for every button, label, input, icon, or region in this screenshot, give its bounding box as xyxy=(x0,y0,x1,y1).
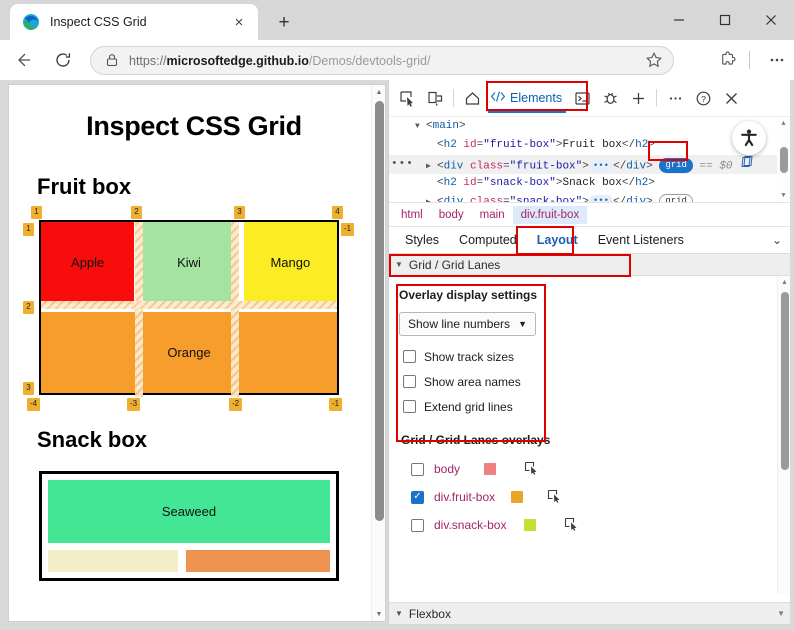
edge-logo-icon xyxy=(22,13,40,31)
grid-cell-label: Kiwi xyxy=(177,255,201,270)
grid-cell-kiwi: Kiwi xyxy=(142,222,235,304)
dom-node-main[interactable]: ▼<main> xyxy=(389,117,790,136)
grid-line-top-1: 1 xyxy=(31,206,42,219)
devtools-divider xyxy=(453,89,454,107)
checkbox-extend-grid-lines[interactable]: Extend grid lines xyxy=(399,394,790,419)
device-emulation-icon[interactable] xyxy=(421,84,449,112)
tab-elements[interactable]: Elements xyxy=(486,83,568,113)
section-flexbox[interactable]: ▼ Flexbox ▼ xyxy=(389,602,790,624)
dom-node-div-fruit-box[interactable]: •••▶<div class="fruit-box">•••</div> gri… xyxy=(389,155,790,174)
checkbox-box[interactable] xyxy=(411,463,424,476)
grid-cell-label: Seaweed xyxy=(162,504,216,519)
grid-cell-label: Apple xyxy=(71,255,104,270)
browser-tab[interactable]: Inspect CSS Grid × xyxy=(10,4,258,40)
grid-cell-orange: Orange xyxy=(41,312,337,394)
checkbox-box[interactable] xyxy=(411,491,424,504)
grid-overlays-title: Grid / Grid Lanes overlays xyxy=(401,433,790,447)
page-viewport: Inspect CSS Grid Fruit box 1 2 3 4 1 2 3… xyxy=(8,84,386,622)
grid-cell-label: Orange xyxy=(167,345,210,360)
tab-close-icon[interactable]: × xyxy=(228,11,250,33)
bug-icon[interactable] xyxy=(596,84,624,112)
grid-cell-seaweed: Seaweed xyxy=(48,480,330,543)
checkbox-box[interactable] xyxy=(403,375,416,388)
title-bar: Inspect CSS Grid × + xyxy=(0,0,794,40)
dom-scrollbar-thumb[interactable] xyxy=(780,147,788,173)
extensions-puzzle-icon[interactable] xyxy=(711,43,745,77)
twisty-icon[interactable]: ▼ xyxy=(415,117,426,136)
grid-line-bottom-neg4: -4 xyxy=(27,398,40,411)
favorites-star-icon[interactable] xyxy=(645,51,665,71)
devtools-more-ellipsis-icon[interactable] xyxy=(661,84,689,112)
scroll-down-arrow-icon[interactable]: ▼ xyxy=(372,607,386,621)
overlay-row-div-snack-box[interactable]: div.snack-box xyxy=(399,511,790,539)
overlay-color-swatch[interactable] xyxy=(511,491,523,503)
breadcrumb-item-body[interactable]: body xyxy=(431,206,472,224)
scroll-down-arrow-icon[interactable]: ▼ xyxy=(777,189,790,202)
console-icon[interactable] xyxy=(568,84,596,112)
window-controls xyxy=(656,0,794,40)
checkbox-show-track-sizes[interactable]: Show track sizes xyxy=(399,344,790,369)
layout-pane-scrollbar[interactable]: ▲ xyxy=(777,276,790,594)
checkbox-box[interactable] xyxy=(403,350,416,363)
chevron-down-icon[interactable]: ⌄ xyxy=(772,233,782,247)
code-brackets-icon xyxy=(490,90,506,106)
grid-line-bottom-neg2: -2 xyxy=(229,398,242,411)
checkbox-box[interactable] xyxy=(403,400,416,413)
tab-title: Inspect CSS Grid xyxy=(50,15,228,29)
toolbar-right-actions xyxy=(705,40,794,80)
scroll-up-arrow-icon[interactable]: ▲ xyxy=(778,276,790,289)
checkbox-label: Extend grid lines xyxy=(424,400,513,414)
overlay-element-name: div.fruit-box xyxy=(434,490,495,504)
tab-event-listeners[interactable]: Event Listeners xyxy=(588,229,694,251)
checkbox-show-area-names[interactable]: Show area names xyxy=(399,369,790,394)
reload-icon[interactable] xyxy=(46,43,80,77)
page-title: Inspect CSS Grid xyxy=(9,111,379,142)
layout-scrollbar-thumb[interactable] xyxy=(781,292,789,470)
section-grid-grid-lanes[interactable]: ▼ Grid / Grid Lanes xyxy=(389,254,790,276)
fruit-box-grid: Apple Kiwi Mango Orange xyxy=(39,220,339,395)
toolbar-divider xyxy=(749,51,750,69)
devtools-divider-2 xyxy=(656,89,657,107)
grid-cell-mango: Mango xyxy=(244,222,337,304)
breadcrumb-item-div-fruit-box[interactable]: div.fruit-box xyxy=(513,206,588,224)
inspect-element-icon[interactable] xyxy=(393,84,421,112)
expand-children-icon[interactable]: ••• xyxy=(589,195,613,202)
chevron-down-icon: ▼ xyxy=(518,319,527,329)
page-scrollbar-thumb[interactable] xyxy=(375,101,384,521)
line-labels-select[interactable]: Show line numbers ▼ xyxy=(399,312,536,336)
grid-line-bottom-neg1: -1 xyxy=(329,398,342,411)
maximize-button[interactable] xyxy=(702,0,748,40)
grid-line-top-4: 4 xyxy=(332,206,343,219)
grid-line-left-1: 1 xyxy=(23,223,34,236)
fruit-box-heading: Fruit box xyxy=(37,174,379,200)
dom-node-h2-snack[interactable]: <h2 id="snack-box">Snack box</h2> xyxy=(389,174,790,193)
help-icon[interactable]: ? xyxy=(689,84,717,112)
page-scrollbar[interactable]: ▲ ▼ xyxy=(371,85,385,621)
pick-element-icon[interactable] xyxy=(524,461,539,478)
checkbox-label: Show track sizes xyxy=(424,350,514,364)
overlay-color-swatch[interactable] xyxy=(484,463,496,475)
grid-cell-label: Mango xyxy=(270,255,310,270)
selected-node-ref: == $0 xyxy=(700,160,733,172)
snack-box-heading: Snack box xyxy=(37,427,379,453)
lock-icon xyxy=(104,52,122,70)
tab-layout[interactable]: Layout xyxy=(527,229,588,251)
web-page-content: Inspect CSS Grid Fruit box 1 2 3 4 1 2 3… xyxy=(9,85,379,622)
snack-box-grid: Seaweed xyxy=(39,471,339,581)
grid-line-left-3: 3 xyxy=(23,382,34,395)
accessibility-person-icon[interactable] xyxy=(732,121,766,155)
scroll-up-arrow-icon[interactable]: ▲ xyxy=(777,117,790,130)
overlay-element-name: body xyxy=(434,462,460,476)
url-host: microsoftedge.github.io xyxy=(167,54,309,68)
minimize-button[interactable] xyxy=(656,0,702,40)
expand-children-icon[interactable]: ••• xyxy=(589,160,613,172)
devtools-panel: Elements ? ▼<main> xyxy=(388,80,790,624)
settings-ellipsis-icon[interactable] xyxy=(760,43,794,77)
tab-elements-label: Elements xyxy=(510,91,562,105)
grid-lanes-icon[interactable] xyxy=(741,160,755,172)
url-text: https://microsoftedge.github.io/Demos/de… xyxy=(129,54,663,68)
grid-line-bottom-neg3: -3 xyxy=(127,398,140,411)
overlay-display-settings-title: Overlay display settings xyxy=(399,288,790,302)
grid-line-right-neg1: -1 xyxy=(341,223,354,236)
breadcrumb-item-html[interactable]: html xyxy=(393,206,431,224)
checkbox-label: Show area names xyxy=(424,375,521,389)
overlay-row-body[interactable]: body xyxy=(399,455,790,483)
pick-element-icon[interactable] xyxy=(564,517,579,534)
home-icon[interactable] xyxy=(458,84,486,112)
caret-down-icon[interactable]: ▼ xyxy=(395,609,403,618)
fruit-box-grid-overlay: 1 2 3 4 1 2 3 -1 -4 -3 -2 -1 Apple xyxy=(39,220,339,395)
overlay-color-swatch[interactable] xyxy=(524,519,536,531)
dom-tree-scrollbar[interactable]: ▲ ▼ xyxy=(777,117,790,202)
scroll-down-arrow-icon[interactable]: ▼ xyxy=(777,609,785,618)
grid-cell-snack-3 xyxy=(186,550,330,572)
layout-pane: Overlay display settings Show line numbe… xyxy=(389,276,790,594)
breadcrumb-item-main[interactable]: main xyxy=(472,206,513,224)
sidebar-pane-tabs: Styles Computed Layout Event Listeners ⌄ xyxy=(389,226,790,254)
devtools-close-icon[interactable] xyxy=(717,84,745,112)
breadcrumb: html body main div.fruit-box xyxy=(389,202,790,226)
section-grid-lanes-label: Grid / Grid Lanes xyxy=(409,258,500,272)
dom-node-menu-dots-icon[interactable]: ••• xyxy=(391,155,414,174)
checkbox-box[interactable] xyxy=(411,519,424,532)
grid-line-left-2: 2 xyxy=(23,301,34,314)
dom-tree[interactable]: ▼<main> <h2 id="fruit-box">Fruit box</h2… xyxy=(389,116,790,202)
back-icon[interactable] xyxy=(6,43,40,77)
dom-node-div-snack-box[interactable]: ▶<div class="snack-box">•••</div> grid xyxy=(389,193,790,202)
browser-window: Inspect CSS Grid × + xyxy=(0,0,794,630)
line-labels-select-value: Show line numbers xyxy=(408,317,510,331)
scroll-up-arrow-icon[interactable]: ▲ xyxy=(372,85,386,99)
caret-down-icon[interactable]: ▼ xyxy=(395,260,403,269)
overlay-row-div-fruit-box[interactable]: div.fruit-box xyxy=(399,483,790,511)
grid-badge-fruit-box[interactable]: grid xyxy=(659,158,693,173)
devtools-toolbar: Elements ? xyxy=(389,80,790,116)
add-panel-plus-icon[interactable] xyxy=(624,84,652,112)
url-scheme: https:// xyxy=(129,54,167,68)
grid-line-top-3: 3 xyxy=(234,206,245,219)
pick-element-icon[interactable] xyxy=(547,489,562,506)
twisty-icon[interactable]: ▶ xyxy=(426,193,437,202)
grid-badge-snack-box[interactable]: grid xyxy=(659,194,693,202)
address-bar[interactable]: https://microsoftedge.github.io/Demos/de… xyxy=(90,46,674,75)
section-flexbox-label: Flexbox xyxy=(409,607,451,621)
tab-styles[interactable]: Styles xyxy=(395,229,449,251)
new-tab-button[interactable]: + xyxy=(272,10,296,34)
close-button[interactable] xyxy=(748,0,794,40)
svg-text:?: ? xyxy=(701,94,706,104)
grid-cell-apple: Apple xyxy=(41,222,134,304)
snack-row-2 xyxy=(48,550,330,572)
url-path: /Demos/devtools-grid/ xyxy=(309,54,431,68)
tab-computed[interactable]: Computed xyxy=(449,229,527,251)
overlay-element-name: div.snack-box xyxy=(434,518,506,532)
grid-cell-snack-2 xyxy=(48,550,178,572)
dom-node-h2-fruit[interactable]: <h2 id="fruit-box">Fruit box</h2> xyxy=(389,136,790,155)
grid-line-top-2: 2 xyxy=(131,206,142,219)
